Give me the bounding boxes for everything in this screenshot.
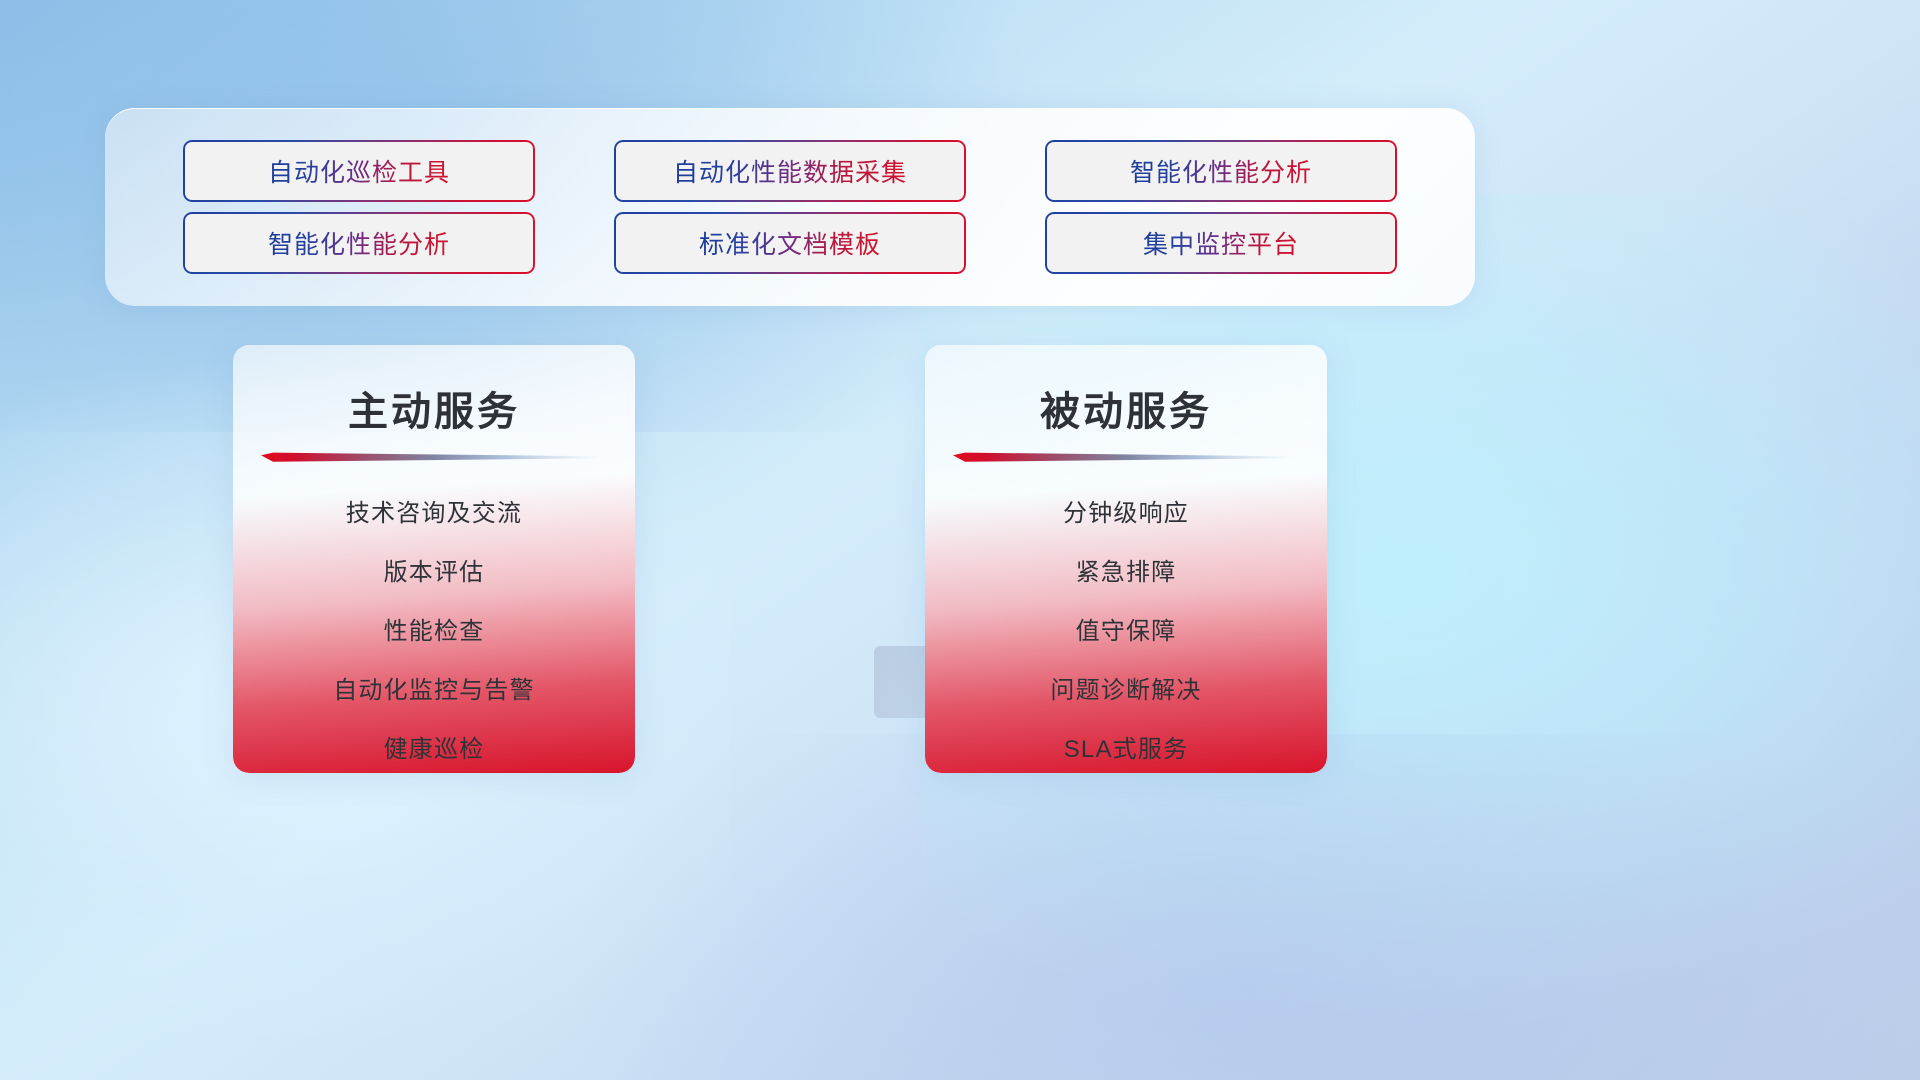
tag-label: 智能化性能分析 (268, 225, 450, 261)
list-item: 健康巡检 (251, 717, 617, 773)
background-glow-bottom (576, 734, 1920, 1080)
tag-label: 自动化性能数据采集 (673, 153, 907, 189)
tag-pill-standardized-document-template[interactable]: 标准化文档模板 (614, 212, 966, 274)
list-item: 版本评估 (251, 540, 617, 599)
list-item: 分钟级响应 (943, 481, 1309, 540)
tag-pill-intelligent-performance-analysis-2[interactable]: 智能化性能分析 (183, 212, 535, 274)
tag-pill-automated-inspection-tool[interactable]: 自动化巡检工具 (183, 140, 535, 202)
tag-pill-centralized-monitoring-platform[interactable]: 集中监控平台 (1045, 212, 1397, 274)
tag-pill-automated-performance-data-collection[interactable]: 自动化性能数据采集 (614, 140, 966, 202)
card-title-divider (261, 452, 607, 463)
list-item: SLA式服务 (943, 717, 1309, 773)
card-title-divider (953, 452, 1299, 463)
tag-label: 自动化巡检工具 (268, 153, 450, 189)
tag-pill-intelligent-performance-analysis[interactable]: 智能化性能分析 (1045, 140, 1397, 202)
tag-label: 集中监控平台 (1143, 225, 1299, 261)
card-title-proactive: 主动服务 (233, 379, 635, 437)
list-item: 问题诊断解决 (943, 658, 1309, 717)
list-item: 值守保障 (943, 599, 1309, 658)
card-list-reactive: 分钟级响应 紧急排障 值守保障 问题诊断解决 SLA式服务 (925, 481, 1327, 773)
tag-label: 智能化性能分析 (1130, 153, 1312, 189)
card-title-reactive: 被动服务 (925, 379, 1327, 437)
list-item: 技术咨询及交流 (251, 481, 617, 540)
list-item: 性能检查 (251, 599, 617, 658)
card-list-proactive: 技术咨询及交流 版本评估 性能检查 自动化监控与告警 健康巡检 (233, 481, 635, 773)
list-item: 自动化监控与告警 (251, 658, 617, 717)
tag-label: 标准化文档模板 (699, 225, 881, 261)
tag-row-2: 智能化性能分析 标准化文档模板 集中监控平台 (183, 212, 1397, 274)
list-item: 紧急排障 (943, 540, 1309, 599)
tag-row-1: 自动化巡检工具 自动化性能数据采集 智能化性能分析 (183, 140, 1397, 202)
service-card-proactive: 主动服务 技术咨询及交流 版本评估 性能检查 自动化监控与告警 健康巡检 (233, 345, 635, 773)
service-card-reactive: 被动服务 分钟级响应 紧急排障 值守保障 问题诊断解决 SLA式服务 (925, 345, 1327, 773)
capability-tag-panel: 自动化巡检工具 自动化性能数据采集 智能化性能分析 智能化性能分析 标准化文档模… (105, 108, 1475, 306)
